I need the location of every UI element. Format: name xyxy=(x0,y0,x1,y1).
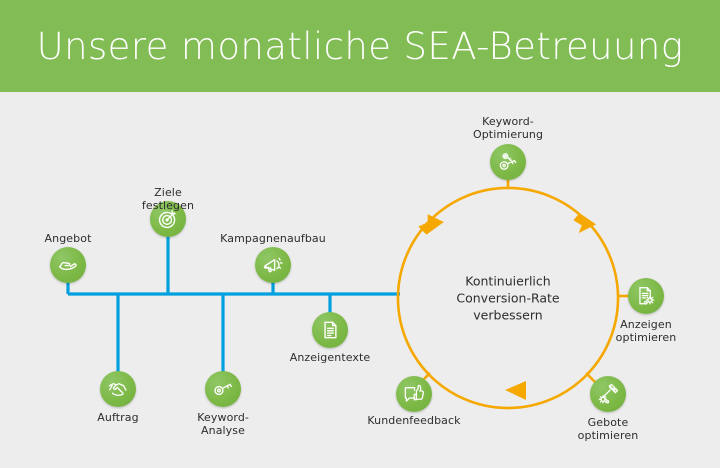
key-icon[interactable] xyxy=(205,371,241,407)
keys-icon[interactable] xyxy=(490,144,526,180)
node-anzeigentexte-label: Anzeigentexte xyxy=(290,351,371,364)
hand-offer-icon[interactable] xyxy=(50,247,86,283)
handshake-icon[interactable] xyxy=(100,371,136,407)
node-auftrag-label: Auftrag xyxy=(97,411,138,424)
node-kampagnenaufbau-label: Kampagnenaufbau xyxy=(220,232,326,245)
feedback-icon[interactable] xyxy=(396,376,432,412)
page-title: Unsere monatliche SEA-Betreuung xyxy=(0,0,720,92)
node-anzeigen-optimieren-label: Anzeigen optimieren xyxy=(616,318,677,344)
megaphone-icon[interactable] xyxy=(255,247,291,283)
node-kundenfeedback-label: Kundenfeedback xyxy=(367,414,460,427)
diagram-canvas: Unsere monatliche SEA-Betreuung xyxy=(0,0,720,468)
node-ziele-festlegen-label: Ziele festlegen xyxy=(142,186,194,212)
header-banner: Unsere monatliche SEA-Betreuung xyxy=(0,0,720,92)
gavel-icon[interactable] xyxy=(590,376,626,412)
cycle-center-text: Kontinuierlich Conversion-Rate verbesser… xyxy=(456,273,559,324)
node-gebote-optimieren-label: Gebote optimieren xyxy=(578,416,639,442)
node-angebot-label: Angebot xyxy=(45,232,92,245)
node-keyword-optimierung-label: Keyword- Optimierung xyxy=(473,115,543,141)
document-gear-icon[interactable] xyxy=(628,278,664,314)
node-keyword-analyse-label: Keyword-Analyse xyxy=(197,411,249,437)
document-icon[interactable] xyxy=(312,312,348,348)
